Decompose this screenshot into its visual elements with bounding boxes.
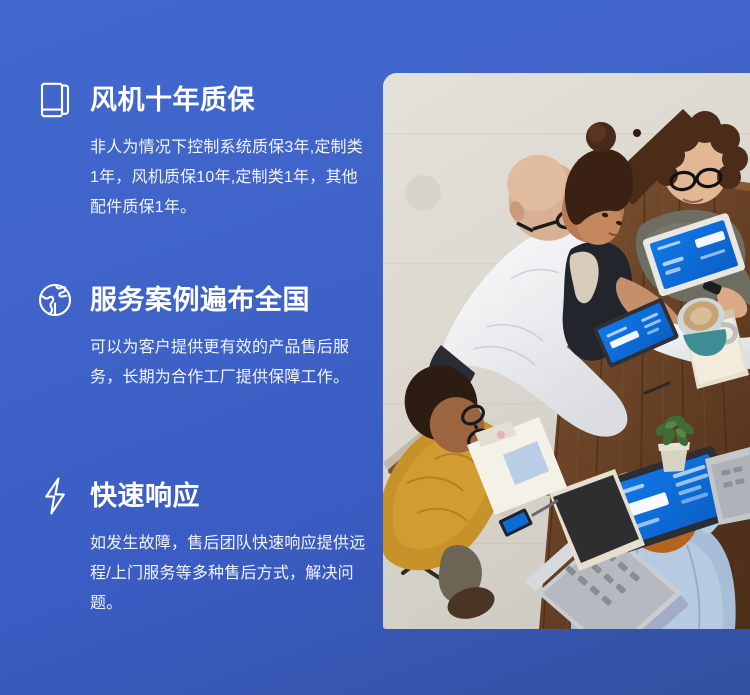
photo-artwork — [383, 73, 750, 629]
feature-header: 快速响应 — [38, 474, 338, 518]
feature-description: 非人为情况下控制系统质保3年,定制类1年，风机质保10年,定制类1年，其他配件质… — [90, 133, 372, 223]
feature-item-warranty: 风机十年质保 非人为情况下控制系统质保3年,定制类1年，风机质保10年,定制类1… — [38, 78, 338, 223]
feature-item-nationwide-cases: 服务案例遍布全国 可以为客户提供更有效的产品售后服务，长期为合作工厂提供保障工作… — [38, 278, 338, 393]
feature-title: 风机十年质保 — [90, 87, 255, 114]
feature-description: 如发生故障，售后团队快速响应提供远程/上门服务等多种售后方式，解决问题。 — [90, 529, 372, 619]
team-meeting-photo — [383, 73, 750, 629]
lightning-bolt-icon — [38, 478, 72, 514]
feature-title: 服务案例遍布全国 — [90, 287, 310, 314]
feature-header: 服务案例遍布全国 — [38, 278, 338, 322]
feature-list: 风机十年质保 非人为情况下控制系统质保3年,定制类1年，风机质保10年,定制类1… — [0, 0, 383, 695]
book-icon — [38, 82, 72, 118]
feature-item-fast-response: 快速响应 如发生故障，售后团队快速响应提供远程/上门服务等多种售后方式，解决问题… — [38, 474, 338, 619]
after-sales-service-banner: 风机十年质保 非人为情况下控制系统质保3年,定制类1年，风机质保10年,定制类1… — [0, 0, 750, 695]
globe-icon — [38, 282, 72, 318]
feature-header: 风机十年质保 — [38, 78, 338, 122]
feature-description: 可以为客户提供更有效的产品售后服务，长期为合作工厂提供保障工作。 — [90, 333, 372, 393]
feature-title: 快速响应 — [90, 483, 200, 510]
